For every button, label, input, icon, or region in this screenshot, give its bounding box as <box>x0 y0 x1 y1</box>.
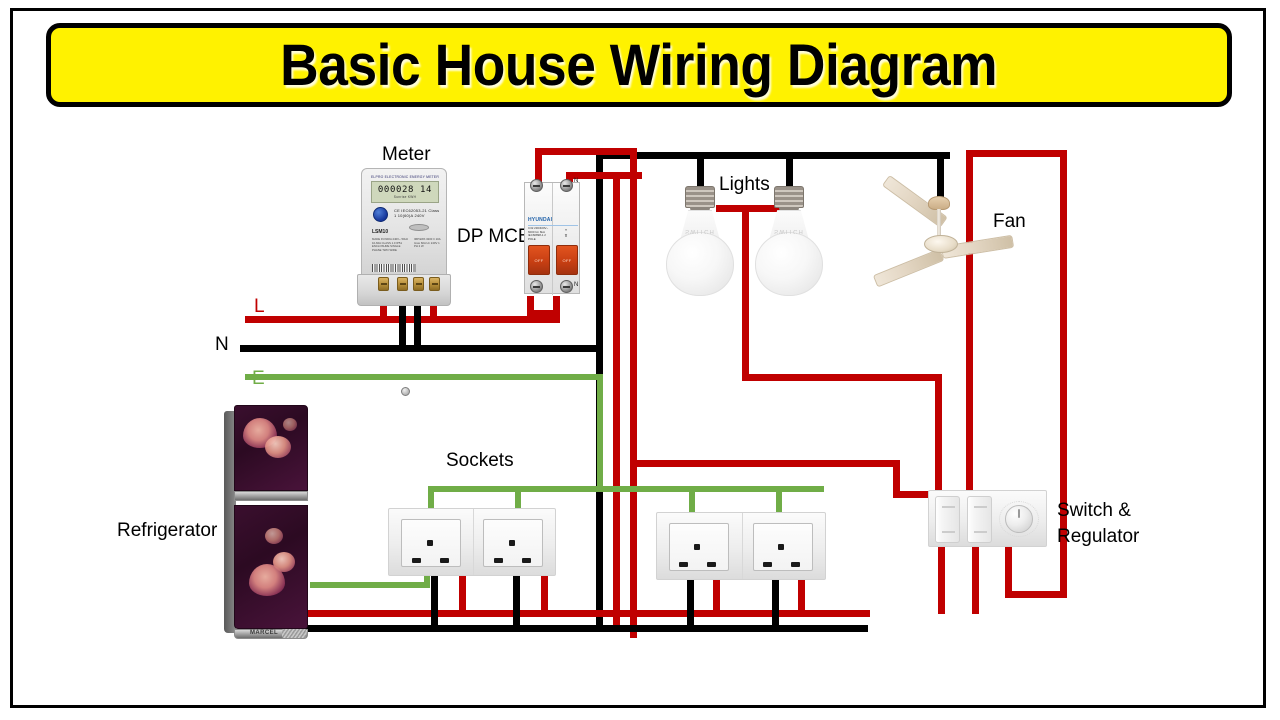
wire-bottom-line-bus <box>310 610 870 617</box>
meter-cover-screw <box>401 387 410 396</box>
wire-line-vertical-b <box>613 172 620 628</box>
wire-supply-E <box>245 374 603 380</box>
wire-line-regulator-out <box>1005 547 1012 598</box>
fan-downrod <box>937 209 941 237</box>
wire-mcb-bottom-term2 <box>553 296 560 318</box>
diagram-canvas: Basic House Wiring Diagram <box>0 0 1280 720</box>
refrigerator[interactable]: MARCEL <box>224 405 312 639</box>
meter-body: ELPRO ELECTRONIC ENERGY METER 000028 14 … <box>361 168 447 280</box>
label-switch-regulator-line1: Switch & <box>1057 498 1177 524</box>
fridge-main-door[interactable] <box>234 505 308 629</box>
label-neutral-N: N <box>215 334 229 356</box>
meter-spec-right: IMP/kWh 3200 Ir 10A Imax 60A Un 240V 1 P… <box>414 238 442 260</box>
ceiling-fan[interactable] <box>880 196 1008 288</box>
meter-terminal-2[interactable] <box>397 277 408 291</box>
socket-plate-divider <box>742 513 743 579</box>
wire-line-switch1-return <box>938 546 945 614</box>
wire-neutral-top-bus <box>596 152 950 159</box>
meter-lcd-display: 000028 14 Sunrise KWH <box>371 181 439 203</box>
wire-line-switch1-feed <box>935 374 942 494</box>
socket-outlet-2[interactable] <box>483 519 543 567</box>
label-switch-regulator-line2: Regulator <box>1057 524 1177 550</box>
wire-line-bulbs-feed-down <box>742 205 749 380</box>
mcb-brand: HYUNDAI <box>528 217 578 226</box>
meter-optical-port <box>409 224 429 231</box>
wire-supply-N <box>240 345 603 352</box>
wire-earth-bus <box>428 486 824 492</box>
fridge-handle-upper[interactable] <box>234 491 308 501</box>
wire-line-bulbs-to-switch <box>742 374 942 381</box>
outer-frame <box>10 8 1266 708</box>
socket-1-line-pin <box>440 558 449 563</box>
bulb-globe <box>666 232 734 296</box>
socket-3-line-pin <box>707 562 716 567</box>
wire-line-fan-top <box>966 150 1067 157</box>
socket-1-neutral-pin <box>412 558 421 563</box>
mcb-terminal-top-line[interactable] <box>530 179 543 192</box>
wire-bottom-neutral-bus <box>308 625 868 632</box>
wire-bottom-line-end <box>863 610 870 617</box>
socket-3-neutral-pin <box>679 562 688 567</box>
label-meter: Meter <box>382 144 431 166</box>
fridge-graphic-flower-6 <box>273 552 295 572</box>
rocker-switch-1[interactable] <box>935 496 960 543</box>
dp-mcb[interactable]: HYUNDAI C32 230/400V~ 6000 Icn 6kA IEC60… <box>524 182 580 294</box>
meter-brand: ELPRO ELECTRONIC ENERGY METER <box>370 174 440 180</box>
socket-outlet-3[interactable] <box>669 523 729 571</box>
fan-regulator-knob[interactable] <box>1005 505 1033 533</box>
socket-plate-group-2[interactable] <box>656 512 826 580</box>
bulb-screw-cap <box>774 186 804 208</box>
bulb-brand: SWITCH <box>682 228 718 234</box>
mcb-body: HYUNDAI C32 230/400V~ 6000 Icn 6kA IEC60… <box>524 182 580 294</box>
mcb-neutral-marker-top: N <box>574 178 578 184</box>
mcb-toggle-pole1[interactable]: OFF <box>528 245 550 275</box>
meter-model: LSM10 <box>372 229 388 235</box>
title-banner: Basic House Wiring Diagram <box>46 23 1232 107</box>
label-earth-E: E <box>252 368 265 390</box>
socket-2-earth-pin <box>509 540 515 546</box>
mcb-terminal-top-neutral[interactable] <box>560 179 573 192</box>
socket-plate-divider <box>473 509 474 575</box>
switch-regulator-plate[interactable] <box>928 490 1047 547</box>
energy-meter[interactable]: ELPRO ELECTRONIC ENERGY METER 000028 14 … <box>357 168 451 308</box>
rocker-switch-2[interactable] <box>967 496 992 543</box>
meter-terminal-4[interactable] <box>429 277 440 291</box>
mcb-terminal-bottom-neutral[interactable] <box>560 280 573 293</box>
fridge-freezer-door[interactable] <box>234 405 308 491</box>
socket-3-earth-pin <box>694 544 700 550</box>
wire-meter-out-to-mcb <box>430 316 560 323</box>
wire-line-to-switch-plate <box>636 460 900 467</box>
wire-earth-fridge <box>310 582 430 588</box>
fridge-brand: MARCEL <box>250 630 278 636</box>
socket-outlet-1[interactable] <box>401 519 461 567</box>
socket-plate-group-1[interactable] <box>388 508 556 576</box>
fridge-vent-grille <box>282 629 306 638</box>
socket-4-line-pin <box>791 562 800 567</box>
meter-push-button[interactable] <box>373 207 388 222</box>
label-refrigerator: Refrigerator <box>117 520 217 542</box>
socket-outlet-4[interactable] <box>753 523 813 571</box>
bulb-globe <box>755 232 823 296</box>
wire-line-fan-return-bottom <box>1005 591 1067 598</box>
meter-display-sub: Sunrise KWH <box>394 195 416 199</box>
meter-spec-left: MADE IN INDIA 240V~ 50Hz 10-60A CLASS 1.… <box>372 238 408 260</box>
label-dp-mcb: DP MCB <box>457 226 531 248</box>
fan-blade-3 <box>873 248 945 287</box>
socket-4-earth-pin <box>778 544 784 550</box>
socket-4-neutral-pin <box>763 562 772 567</box>
wire-line-mcb-top-out <box>535 148 637 155</box>
fridge-graphic-flower-3 <box>283 418 297 431</box>
meter-reading: 000028 14 <box>378 185 432 195</box>
mcb-terminal-bottom-line[interactable] <box>530 280 543 293</box>
fan-motor-hub <box>924 235 958 253</box>
bulb-screw-cap <box>685 186 715 208</box>
label-sockets: Sockets <box>446 450 514 472</box>
socket-1-earth-pin <box>427 540 433 546</box>
fan-canopy <box>928 196 950 210</box>
mcb-pole-divider <box>552 183 553 295</box>
socket-2-neutral-pin <box>494 558 503 563</box>
page-title: Basic House Wiring Diagram <box>280 32 997 99</box>
label-switch-regulator: Switch & Regulator <box>1057 498 1177 549</box>
light-bulb-2[interactable]: SWITCH <box>751 186 827 298</box>
mcb-neutral-marker-bottom: N <box>574 282 578 288</box>
socket-2-line-pin <box>522 558 531 563</box>
mcb-toggle-pole2[interactable]: OFF <box>556 245 578 275</box>
wire-line-vertical-a <box>630 148 637 638</box>
light-bulb-1[interactable]: SWITCH <box>662 186 738 298</box>
wire-line-switch2-return <box>972 546 979 614</box>
wire-earth-riser <box>597 374 603 486</box>
meter-terminal-1[interactable] <box>378 277 389 291</box>
fridge-graphic-flower-4 <box>265 528 283 544</box>
meter-barcode <box>372 264 416 272</box>
meter-terminal-block <box>357 274 451 306</box>
meter-certification-marks: CE IEC62053-21 Class 1 10(60)A 240V <box>394 208 440 221</box>
meter-terminal-3[interactable] <box>413 277 424 291</box>
fridge-graphic-flower-2 <box>265 436 291 458</box>
bulb-brand: SWITCH <box>771 228 807 234</box>
label-line-L: L <box>254 296 265 318</box>
